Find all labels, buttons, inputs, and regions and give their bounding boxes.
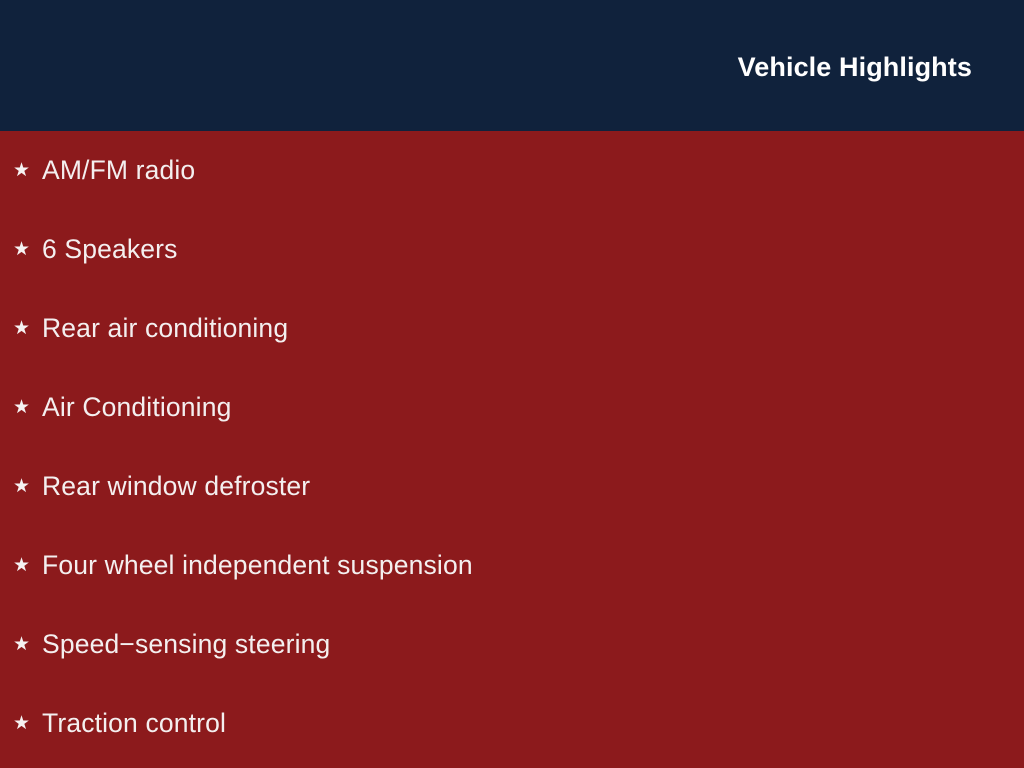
list-item: ★ Air Conditioning — [0, 368, 1024, 447]
star-icon: ★ — [13, 635, 31, 654]
star-icon: ★ — [13, 319, 31, 338]
feature-label: 6 Speakers — [42, 236, 178, 263]
list-item: ★ Rear window defroster — [0, 447, 1024, 526]
list-item: ★ Speed−sensing steering — [0, 605, 1024, 684]
list-item: ★ Rear air conditioning — [0, 289, 1024, 368]
feature-label: AM/FM radio — [42, 157, 195, 184]
vehicle-highlights-slide: Vehicle Highlights ★ AM/FM radio ★ 6 Spe… — [0, 0, 1024, 768]
star-icon: ★ — [13, 477, 31, 496]
feature-label: Traction control — [42, 710, 226, 737]
slide-header: Vehicle Highlights — [0, 0, 1024, 131]
list-item: ★ 6 Speakers — [0, 210, 1024, 289]
star-icon: ★ — [13, 556, 31, 575]
vehicle-feature-list: ★ AM/FM radio ★ 6 Speakers ★ Rear air co… — [0, 131, 1024, 763]
list-item: ★ Four wheel independent suspension — [0, 526, 1024, 605]
star-icon: ★ — [13, 161, 31, 180]
list-item: ★ Traction control — [0, 684, 1024, 763]
star-icon: ★ — [13, 714, 31, 733]
slide-body: ★ AM/FM radio ★ 6 Speakers ★ Rear air co… — [0, 131, 1024, 768]
star-icon: ★ — [13, 240, 31, 259]
page-title: Vehicle Highlights — [738, 54, 972, 81]
feature-label: Air Conditioning — [42, 394, 231, 421]
feature-label: Speed−sensing steering — [42, 631, 330, 658]
star-icon: ★ — [13, 398, 31, 417]
feature-label: Four wheel independent suspension — [42, 552, 473, 579]
feature-label: Rear window defroster — [42, 473, 310, 500]
feature-label: Rear air conditioning — [42, 315, 288, 342]
list-item: ★ AM/FM radio — [0, 131, 1024, 210]
